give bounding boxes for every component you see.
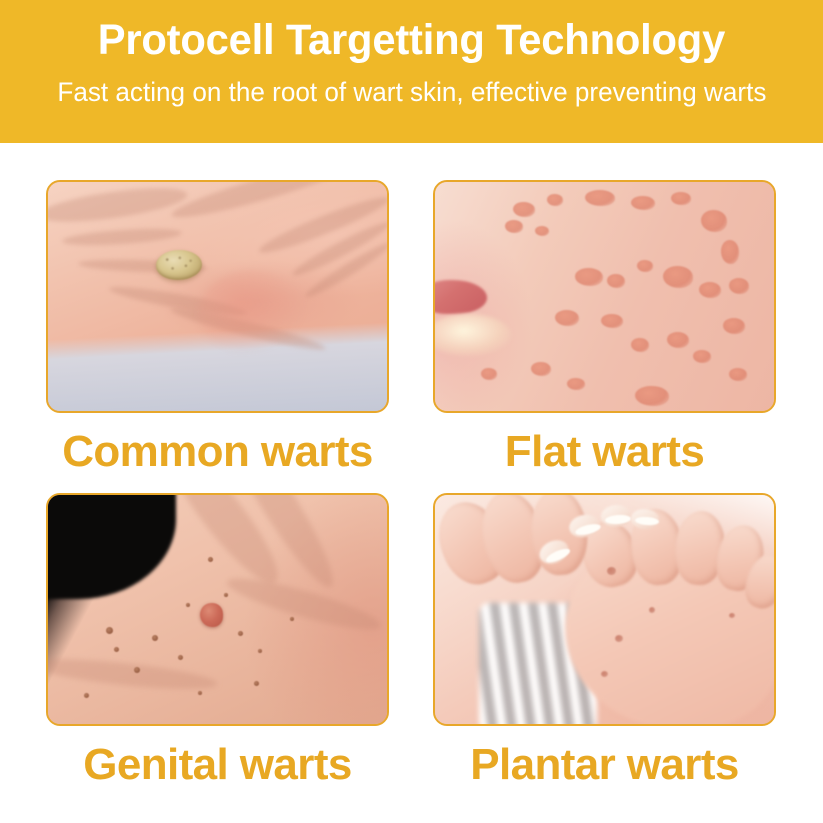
mole <box>290 617 294 621</box>
knuckle-highlight <box>198 270 308 356</box>
wart-lesion <box>555 310 579 326</box>
wart-lesion <box>667 332 689 348</box>
wart-lesion <box>721 240 739 264</box>
caption-common-warts: Common warts <box>46 423 389 481</box>
wart-lesion <box>615 635 623 642</box>
mole <box>178 655 183 660</box>
wart-lesion <box>513 202 535 217</box>
wart-lesion <box>567 378 585 390</box>
wart-lesion <box>156 250 202 280</box>
wart-lesion <box>699 282 721 298</box>
wart-lesion <box>729 278 749 294</box>
lip-highlight <box>435 314 511 356</box>
skin-crease <box>62 226 183 248</box>
wart-lesion <box>729 368 747 381</box>
infographic-page: Protocell Targetting Technology Fast act… <box>0 0 823 823</box>
wart-lesion <box>575 268 603 286</box>
mole <box>114 647 119 652</box>
photo-frame-common-warts <box>46 180 389 413</box>
wart-lesion <box>601 671 608 677</box>
wart-lesion <box>531 362 551 376</box>
dark-background <box>48 495 176 599</box>
wart-lesion <box>693 350 711 363</box>
photo-flat-warts <box>435 182 774 411</box>
lip-shape <box>435 280 487 314</box>
wart-card-genital-warts[interactable]: Genital warts <box>46 493 389 794</box>
mole <box>224 593 228 597</box>
mole <box>258 649 262 653</box>
mole <box>208 557 213 562</box>
wart-lesion <box>585 190 615 206</box>
neck-tendon <box>224 569 385 638</box>
photo-genital-warts <box>48 495 387 724</box>
wart-lesion <box>547 194 563 206</box>
wart-card-plantar-warts[interactable]: Plantar warts <box>433 493 776 794</box>
wart-lesion <box>671 192 691 205</box>
wart-lesion <box>505 220 523 233</box>
wart-lesion <box>729 613 735 618</box>
page-subtitle: Fast acting on the root of wart skin, ef… <box>57 75 766 109</box>
photo-plantar-warts <box>435 495 774 724</box>
wart-lesion <box>637 260 653 272</box>
photo-frame-genital-warts <box>46 493 389 726</box>
mole <box>254 681 259 686</box>
photo-frame-flat-warts <box>433 180 776 413</box>
wart-lesion <box>723 318 745 334</box>
neck-tendon <box>48 653 219 695</box>
wart-card-flat-warts[interactable]: Flat warts <box>433 180 776 481</box>
skin-crease <box>256 190 387 259</box>
wart-type-grid: Common warts <box>0 143 823 823</box>
wart-lesion <box>649 607 655 613</box>
wart-lesion <box>631 338 649 352</box>
mole <box>186 603 190 607</box>
wart-lesion <box>663 266 693 288</box>
wart-lesion <box>701 210 727 232</box>
mole <box>84 693 89 698</box>
wart-lesion <box>535 226 549 236</box>
caption-plantar-warts: Plantar warts <box>433 736 776 794</box>
photo-common-warts <box>48 182 387 411</box>
caption-genital-warts: Genital warts <box>46 736 389 794</box>
wart-lesion <box>607 567 616 575</box>
caption-flat-warts: Flat warts <box>433 423 776 481</box>
skin-crease <box>48 182 189 228</box>
mole <box>198 691 202 695</box>
page-title: Protocell Targetting Technology <box>98 12 725 68</box>
wart-lesion <box>481 368 497 380</box>
wart-lesion <box>607 274 625 288</box>
fingernail-tip <box>605 514 632 525</box>
wart-card-common-warts[interactable]: Common warts <box>46 180 389 481</box>
wart-lesion <box>635 386 669 406</box>
photo-frame-plantar-warts <box>433 493 776 726</box>
mole <box>152 635 158 641</box>
mole <box>106 627 113 634</box>
wart-lesion <box>200 603 223 627</box>
mole <box>134 667 140 673</box>
wart-lesion <box>601 314 623 328</box>
header-banner: Protocell Targetting Technology Fast act… <box>0 0 823 143</box>
mole <box>238 631 243 636</box>
wart-lesion <box>631 196 655 210</box>
